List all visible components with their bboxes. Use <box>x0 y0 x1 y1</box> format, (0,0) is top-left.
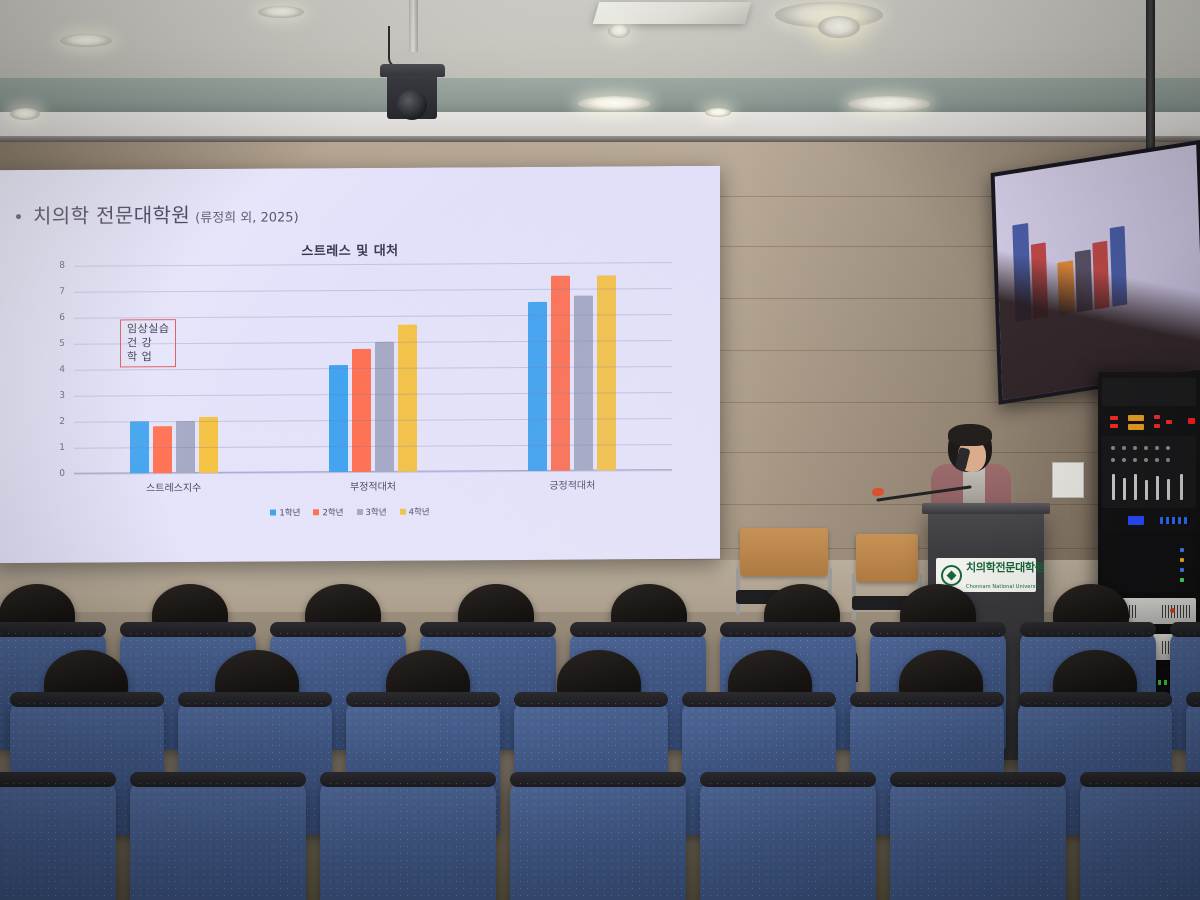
seat-top-rail <box>514 692 668 707</box>
seat-top-rail <box>870 622 1006 637</box>
annotation-line-2: 건 강 <box>127 336 169 350</box>
led-indicator <box>1166 420 1172 424</box>
chart-bar <box>551 276 570 471</box>
confidence-monitor-icon[interactable]: — — <box>991 140 1200 405</box>
chart-y-tick: 8 <box>59 261 65 271</box>
projection-screen[interactable]: 치의학 전문대학원 (류정희 외, 2025) 스트레스 및 대처 012345… <box>0 166 720 563</box>
podium-org-ko: 치의학전문대학원 <box>966 561 1045 574</box>
projector-lens-icon <box>397 90 427 120</box>
auditorium-seat[interactable] <box>320 780 496 900</box>
chart-bar <box>398 325 417 472</box>
blank-panel <box>1102 534 1196 592</box>
auditorium-seat[interactable] <box>0 780 116 900</box>
led-display <box>1128 516 1144 525</box>
seat-top-rail <box>1020 622 1156 637</box>
university-emblem-icon <box>941 565 962 586</box>
annotation-line-3: 학 업 <box>127 350 169 364</box>
seat-top-rail <box>700 772 876 787</box>
auditorium-seat[interactable] <box>130 780 306 900</box>
legend-swatch <box>313 509 319 515</box>
ceiling-light-panel <box>593 2 751 24</box>
chart-y-tick: 4 <box>59 365 65 375</box>
legend-item: 1학년 <box>270 506 300 518</box>
chart-legend: 1학년2학년3학년4학년 <box>12 504 688 520</box>
auditorium-seat[interactable] <box>510 780 686 900</box>
slide-heading: 치의학 전문대학원 (류정희 외, 2025) <box>16 198 299 229</box>
monitor-glare-shadow <box>995 170 1200 400</box>
seat-top-rail <box>320 772 496 787</box>
chart-x-label: 부정적대처 <box>350 478 396 493</box>
led-indicator <box>1110 416 1118 420</box>
seat-top-rail <box>1170 622 1200 637</box>
chart-y-tick: 5 <box>59 339 65 349</box>
legend-swatch <box>357 509 363 515</box>
seat-top-rail <box>10 692 164 707</box>
projector-pole <box>409 0 418 58</box>
led-indicator <box>1128 415 1144 421</box>
chart-y-tick: 1 <box>59 443 65 453</box>
auditorium-seat[interactable] <box>890 780 1066 900</box>
seat-top-rail <box>130 772 306 787</box>
seat-top-rail <box>178 692 332 707</box>
legend-item: 4학년 <box>400 506 430 518</box>
chart-bar <box>329 365 348 472</box>
slide-citation: (류정희 외, 2025) <box>195 206 298 226</box>
seat-top-rail <box>270 622 406 637</box>
chart-y-tick: 0 <box>59 469 65 479</box>
slide-title-text: 치의학 전문대학원 <box>33 199 190 229</box>
led-indicator <box>1110 424 1118 428</box>
chart-bar <box>153 426 172 473</box>
chart-x-label: 긍정적대처 <box>549 477 595 492</box>
ceiling-downlight-icon <box>10 108 40 120</box>
led-indicator <box>1154 415 1160 419</box>
chart-y-tick: 3 <box>59 391 65 401</box>
podium-top <box>922 503 1050 514</box>
led-indicator <box>1154 424 1160 428</box>
stress-coping-bar-chart: 스트레스 및 대처 012345678스트레스지수부정적대처긍정적대처 임상실습… <box>12 238 688 542</box>
processor-unit[interactable] <box>1102 510 1196 532</box>
seat-top-rail <box>850 692 1004 707</box>
chart-y-tick: 6 <box>59 313 65 323</box>
chart-bar <box>597 275 616 470</box>
speaker-hair <box>948 424 992 446</box>
seat-top-rail <box>720 622 856 637</box>
seat-top-rail <box>1080 772 1200 787</box>
ceiling-downlight-icon <box>60 34 112 47</box>
legend-swatch <box>400 509 406 515</box>
legend-swatch <box>270 509 276 515</box>
led-indicator <box>1188 418 1195 424</box>
bullet-icon <box>16 214 21 219</box>
chart-x-label: 스트레스지수 <box>146 479 201 494</box>
seat-top-rail <box>1186 692 1200 707</box>
chart-y-tick: 7 <box>59 287 65 297</box>
seat-top-rail <box>420 622 556 637</box>
chart-plot-area: 012345678스트레스지수부정적대처긍정적대처 <box>74 262 672 474</box>
legend-item: 3학년 <box>357 506 387 518</box>
chart-bar <box>199 417 218 473</box>
monitor-screen: — — <box>995 145 1200 400</box>
legend-label: 4학년 <box>409 506 430 518</box>
seat-top-rail <box>890 772 1066 787</box>
rack-unit <box>1102 408 1196 434</box>
projection-screen-frame: 치의학 전문대학원 (류정희 외, 2025) 스트레스 및 대처 012345… <box>0 166 720 563</box>
seat-top-rail <box>0 772 116 787</box>
audio-mixer[interactable] <box>1102 436 1196 508</box>
seat-top-rail <box>0 622 106 637</box>
legend-label: 2학년 <box>322 506 343 518</box>
annotation-line-1: 임상실습 <box>127 322 169 336</box>
ceiling-downlight-icon <box>705 108 731 117</box>
annotation-box: 임상실습 건 강 학 업 <box>120 319 176 368</box>
chart-bar <box>375 342 394 472</box>
ceiling-downlight-icon <box>608 24 630 38</box>
ceiling-downlight-icon <box>818 16 860 38</box>
legend-label: 1학년 <box>279 506 300 518</box>
ceiling-downlight-icon <box>258 6 304 18</box>
chart-y-tick: 2 <box>59 417 65 427</box>
chart-title: 스트레스 및 대처 <box>12 238 688 261</box>
seat-top-rail <box>510 772 686 787</box>
auditorium-seat[interactable] <box>1080 780 1200 900</box>
seat-top-rail <box>682 692 836 707</box>
seat-top-rail <box>346 692 500 707</box>
led-display <box>1160 517 1190 524</box>
auditorium-seat[interactable] <box>700 780 876 900</box>
lecture-hall-scene: 치의학 전문대학원 (류정희 외, 2025) 스트레스 및 대처 012345… <box>0 0 1200 900</box>
rack-unit <box>1102 378 1196 406</box>
seat-top-rail <box>1018 692 1172 707</box>
legend-item: 2학년 <box>313 506 343 518</box>
legend-label: 3학년 <box>366 506 387 518</box>
ceiling-downlight-icon <box>578 96 650 111</box>
led-indicator <box>1128 424 1144 430</box>
seat-top-rail <box>570 622 706 637</box>
monitor-arm <box>1146 0 1155 150</box>
ceiling-downlight-icon <box>848 96 930 112</box>
podium-org-en: Chonnam National University <box>966 584 1042 590</box>
seat-top-rail <box>120 622 256 637</box>
wall-outlet-panel <box>1052 462 1084 498</box>
